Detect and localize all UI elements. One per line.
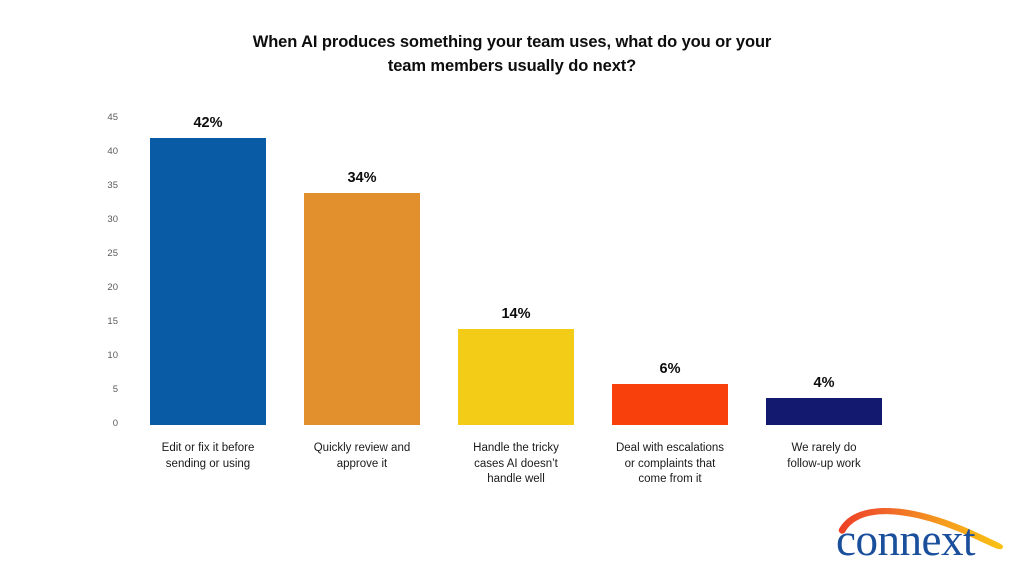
y-axis-tick-15: 15 [78,317,118,327]
x-axis-label-4: Deal with escalations or complaints that… [596,441,744,488]
bar-handle-the-tricky-cases[interactable] [458,329,574,425]
y-axis-tick-0: 0 [78,419,118,429]
y-axis-tick-20: 20 [78,283,118,293]
bar-deal-with-escalations[interactable] [612,384,728,425]
y-axis-tick-25: 25 [78,249,118,259]
y-axis-tick-5: 5 [78,385,118,395]
x-axis-label-1-line-2: sending or using [136,457,280,473]
x-axis-label-3-line-1: Handle the tricky [444,441,588,457]
x-axis-label-2: Quickly review and approve it [290,441,434,472]
x-axis-label-2-line-2: approve it [290,457,434,473]
x-axis-label-5-line-2: follow-up work [752,457,896,473]
slide-canvas: When AI produces something your team use… [0,0,1024,576]
bar-label-3: 14% [458,306,574,322]
x-axis-label-4-line-2: or complaints that [596,457,744,473]
y-axis-tick-10: 10 [78,351,118,361]
bar-quickly-review-and-approve-it[interactable] [304,193,420,425]
y-axis-tick-45: 45 [78,113,118,123]
x-axis-label-2-line-1: Quickly review and [290,441,434,457]
bar-label-1: 42% [150,115,266,131]
x-axis-label-3: Handle the tricky cases AI doesn’t handl… [444,441,588,488]
bar-edit-or-fix-it-before-sending-or-using[interactable] [150,138,266,425]
y-axis-tick-40: 40 [78,147,118,157]
x-axis-label-3-line-3: handle well [444,472,588,488]
bar-chart-plot-area: 45 40 35 30 25 20 15 10 5 0 42% 34% 14% … [0,0,1024,576]
bar-label-5: 4% [766,375,882,391]
x-axis-label-4-line-3: come from it [596,472,744,488]
bar-label-4: 6% [612,361,728,377]
x-axis-label-1: Edit or fix it before sending or using [136,441,280,472]
x-axis-label-5-line-1: We rarely do [752,441,896,457]
x-axis-label-5: We rarely do follow-up work [752,441,896,472]
x-axis-label-1-line-1: Edit or fix it before [136,441,280,457]
x-axis-label-4-line-1: Deal with escalations [596,441,744,457]
logo-wordmark: connext [836,517,1012,563]
x-axis-label-3-line-2: cases AI doesn’t [444,457,588,473]
bar-label-2: 34% [304,170,420,186]
y-axis-tick-30: 30 [78,215,118,225]
connext-logo: connext [836,505,1012,567]
bar-we-rarely-do-follow-up-work[interactable] [766,398,882,425]
y-axis-tick-35: 35 [78,181,118,191]
